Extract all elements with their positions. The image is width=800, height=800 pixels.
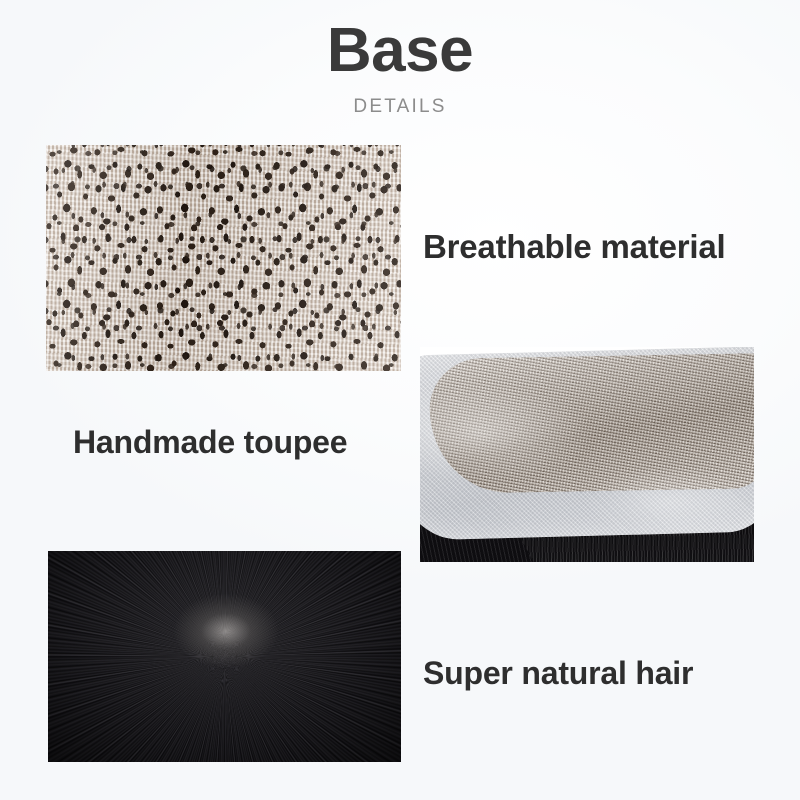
base-mesh-panel <box>429 353 754 494</box>
lace-lighting-overlay <box>46 145 401 371</box>
page-subtitle: DETAILS <box>0 96 800 118</box>
caption-handmade-toupee: Handmade toupee <box>73 424 347 461</box>
product-detail-page: Base DETAILS Breathable material Handmad… <box>0 0 800 800</box>
caption-super-natural-hair: Super natural hair <box>423 655 693 692</box>
hair-crown-photo <box>48 551 401 762</box>
toupee-base-photo <box>420 347 754 562</box>
lace-mesh-photo <box>46 145 401 371</box>
crown-center-highlight <box>174 594 278 668</box>
page-title: Base <box>0 18 800 85</box>
caption-breathable-material: Breathable material <box>423 228 726 266</box>
